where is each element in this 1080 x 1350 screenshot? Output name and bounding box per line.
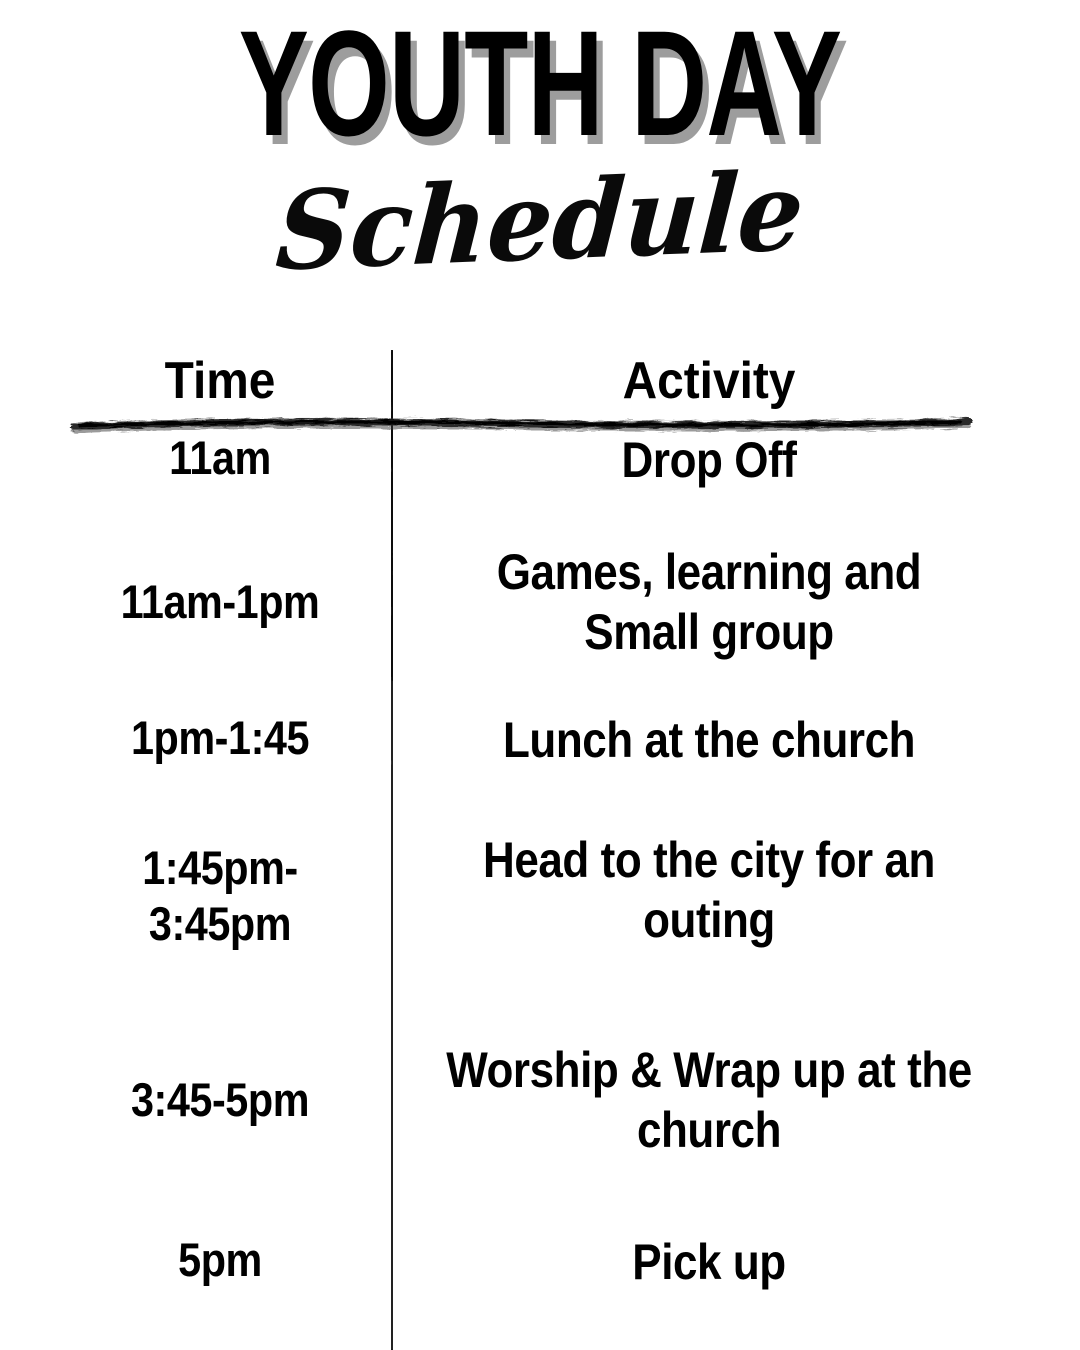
activity-cell-wrap: Head to the city for an outing [404, 830, 1014, 950]
table-header-row: Time Activity [0, 352, 1080, 424]
time-cell: 1pm-1:45 [58, 710, 382, 766]
time-cell-wrap: 5pm [36, 1232, 404, 1288]
time-cell-wrap: 11am-1pm [36, 574, 404, 630]
time-cell: 3:45-5pm [58, 1072, 382, 1128]
time-cell-wrap: 1pm-1:45 [36, 710, 404, 766]
activity-cell-wrap: Drop Off [404, 430, 1014, 490]
page-subtitle: Schedule [23, 138, 1057, 306]
activity-cell-wrap: Games, learning and Small group [404, 542, 1014, 662]
activity-cell: Drop Off [441, 430, 978, 490]
activity-cell-wrap: Lunch at the church [404, 710, 1014, 770]
time-cell: 1:45pm- 3:45pm [58, 840, 382, 952]
time-cell: 11am-1pm [58, 574, 382, 630]
time-cell: 11am [58, 430, 382, 486]
activity-cell-wrap: Worship & Wrap up at the church [404, 1040, 1014, 1160]
activity-cell: Lunch at the church [441, 710, 978, 770]
activity-cell: Head to the city for an outing [441, 830, 978, 950]
activity-cell-wrap: Pick up [404, 1232, 1014, 1292]
column-header-time: Time [51, 352, 390, 410]
time-cell-wrap: 3:45-5pm [36, 1072, 404, 1128]
column-header-activity: Activity [428, 352, 989, 410]
page-title: YOUTH DAY [162, 8, 918, 158]
column-header-time-wrap: Time [36, 352, 404, 410]
activity-cell: Worship & Wrap up at the church [441, 1040, 978, 1160]
time-cell-wrap: 1:45pm- 3:45pm [36, 840, 404, 952]
time-cell: 5pm [58, 1232, 382, 1288]
time-cell-wrap: 11am [36, 430, 404, 486]
activity-cell: Pick up [441, 1232, 978, 1292]
column-header-activity-wrap: Activity [404, 352, 1014, 410]
youth-day-schedule-poster: YOUTH DAY Schedule [0, 0, 1080, 1350]
activity-cell: Games, learning and Small group [441, 542, 978, 662]
